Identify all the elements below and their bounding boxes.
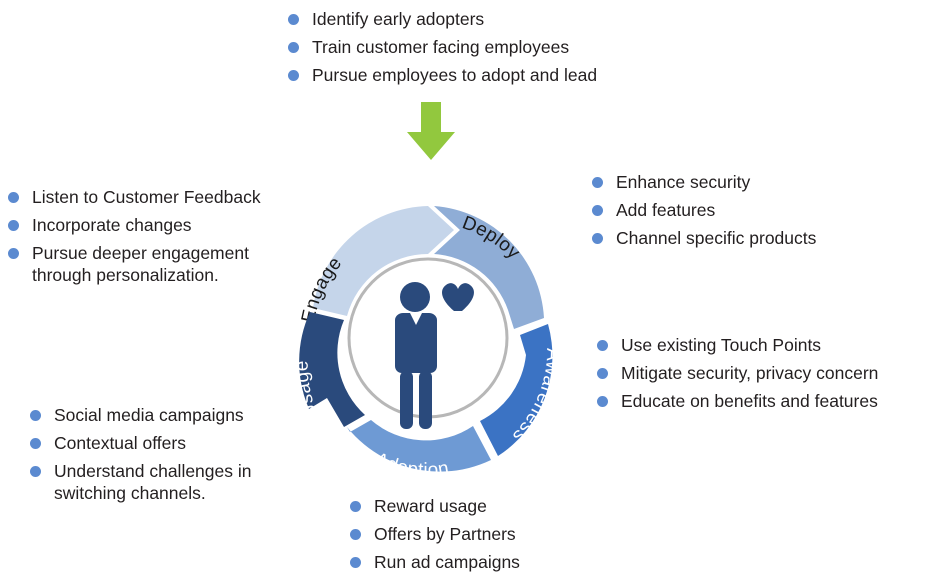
bullet-dot-icon bbox=[8, 220, 19, 231]
down-arrow-icon bbox=[400, 100, 462, 162]
deploy-preparation-list: Identify early adopters Train customer f… bbox=[288, 8, 638, 91]
list-item-label: Understand challenges in switching chann… bbox=[54, 460, 252, 506]
list-item-label: Use existing Touch Points bbox=[621, 334, 821, 357]
bullet-dot-icon bbox=[350, 529, 361, 540]
bullet-dot-icon bbox=[592, 233, 603, 244]
list-item: Run ad campaigns bbox=[350, 551, 650, 574]
adoption-list: Reward usage Offers by Partners Run ad c… bbox=[350, 495, 650, 578]
bullet-dot-icon bbox=[30, 438, 41, 449]
bullet-dot-icon bbox=[288, 14, 299, 25]
bullet-dot-icon bbox=[597, 340, 608, 351]
list-item-label: Offers by Partners bbox=[374, 523, 516, 546]
list-item-label: Channel specific products bbox=[616, 227, 816, 250]
bullet-dot-icon bbox=[8, 192, 19, 203]
bullet-dot-icon bbox=[350, 557, 361, 568]
list-item: Channel specific products bbox=[592, 227, 922, 250]
list-item: Social media campaigns bbox=[30, 404, 310, 427]
list-item-label: Social media campaigns bbox=[54, 404, 244, 427]
list-item-label: Reward usage bbox=[374, 495, 487, 518]
consistent-usage-list: Social media campaigns Contextual offers… bbox=[30, 404, 310, 510]
bullet-dot-icon bbox=[288, 42, 299, 53]
list-item-label: Enhance security bbox=[616, 171, 750, 194]
list-item-label: Contextual offers bbox=[54, 432, 186, 455]
list-item: Listen to Customer Feedback bbox=[8, 186, 293, 209]
list-item-label: Pursue deeper engagement through persona… bbox=[32, 242, 249, 288]
bullet-dot-icon bbox=[350, 501, 361, 512]
list-item-label: Incorporate changes bbox=[32, 214, 192, 237]
engage-list: Listen to Customer Feedback Incorporate … bbox=[8, 186, 293, 292]
list-item-label: Train customer facing employees bbox=[312, 36, 569, 59]
list-item: Contextual offers bbox=[30, 432, 310, 455]
list-item: Add features bbox=[592, 199, 922, 222]
bullet-dot-icon bbox=[288, 70, 299, 81]
list-item-label: Add features bbox=[616, 199, 715, 222]
list-item: Pursue employees to adopt and lead bbox=[288, 64, 638, 87]
list-item-label: Educate on benefits and features bbox=[621, 390, 878, 413]
list-item: Offers by Partners bbox=[350, 523, 650, 546]
list-item: Use existing Touch Points bbox=[597, 334, 927, 357]
bullet-dot-icon bbox=[8, 248, 19, 259]
bullet-dot-icon bbox=[597, 396, 608, 407]
list-item: Mitigate security, privacy concern bbox=[597, 362, 927, 385]
list-item: Incorporate changes bbox=[8, 214, 293, 237]
list-item-label: Pursue employees to adopt and lead bbox=[312, 64, 597, 87]
list-item: Pursue deeper engagement through persona… bbox=[8, 242, 293, 288]
bullet-dot-icon bbox=[30, 410, 41, 421]
awareness-list: Use existing Touch Points Mitigate secur… bbox=[597, 334, 927, 417]
list-item: Educate on benefits and features bbox=[597, 390, 927, 413]
bullet-dot-icon bbox=[592, 177, 603, 188]
list-item-label: Run ad campaigns bbox=[374, 551, 520, 574]
list-item: Train customer facing employees bbox=[288, 36, 638, 59]
bullet-dot-icon bbox=[30, 466, 41, 477]
list-item-label: Mitigate security, privacy concern bbox=[621, 362, 878, 385]
list-item: Identify early adopters bbox=[288, 8, 638, 31]
bullet-dot-icon bbox=[597, 368, 608, 379]
list-item: Reward usage bbox=[350, 495, 650, 518]
bullet-dot-icon bbox=[592, 205, 603, 216]
list-item: Enhance security bbox=[592, 171, 922, 194]
deploy-list: Enhance security Add features Channel sp… bbox=[592, 171, 922, 254]
list-item-label: Identify early adopters bbox=[312, 8, 484, 31]
list-item-label: Listen to Customer Feedback bbox=[32, 186, 261, 209]
list-item: Understand challenges in switching chann… bbox=[30, 460, 310, 506]
